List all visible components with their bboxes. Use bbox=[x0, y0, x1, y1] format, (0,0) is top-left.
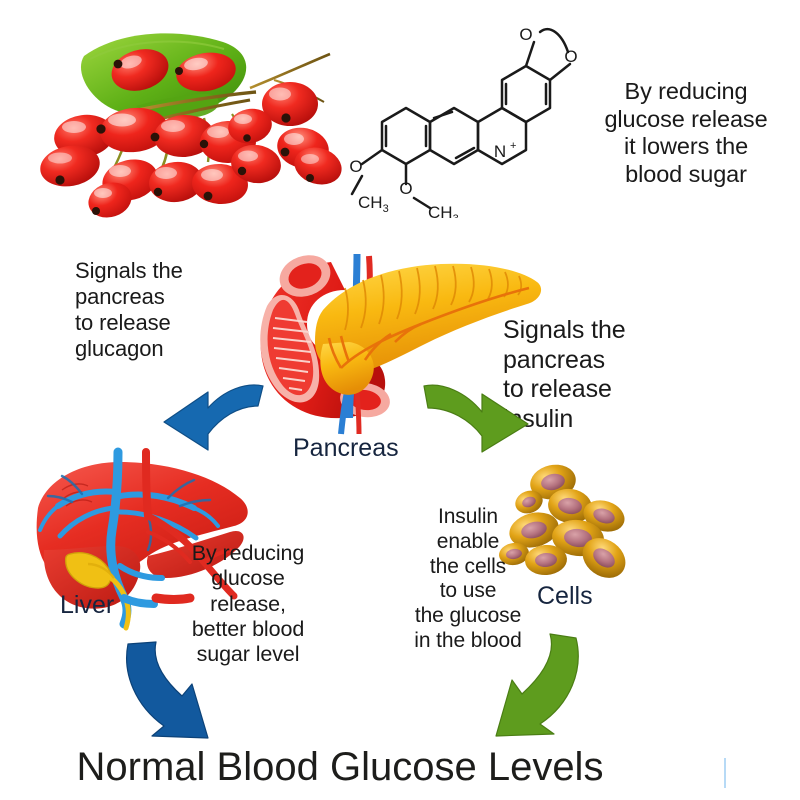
atom-label-o-1: O bbox=[519, 25, 532, 44]
atom-label-ch3-1: CH3 bbox=[358, 193, 389, 215]
berberine-caption: By reducing glucose release it lowers th… bbox=[586, 78, 786, 189]
atom-label-o-2: O bbox=[564, 47, 577, 66]
atom-label-ch3-2: CH3 bbox=[428, 203, 459, 218]
atom-label-o-4: O bbox=[399, 179, 412, 198]
atom-label-o-3: O bbox=[349, 157, 362, 176]
arrow-cells-to-title bbox=[474, 624, 599, 742]
barberry-berries-photo bbox=[18, 14, 348, 229]
organ-label-pancreas: Pancreas bbox=[293, 434, 399, 463]
glucagon-caption: Signals the pancreas to release glucagon bbox=[75, 258, 265, 362]
berberine-chemical-structure: O O N + O O CH3 CH3 bbox=[348, 18, 578, 218]
corner-tick-mark bbox=[724, 758, 726, 788]
arrow-liver-to-title bbox=[112, 634, 232, 746]
atom-charge-plus: + bbox=[510, 140, 516, 152]
atom-label-n: N bbox=[494, 142, 506, 161]
infographic-canvas: O O N + O O CH3 CH3 By reducing glucose … bbox=[0, 0, 800, 800]
organ-label-liver: Liver bbox=[60, 591, 114, 620]
arrow-pancreas-to-cells bbox=[418, 372, 538, 462]
organ-label-cells: Cells bbox=[537, 582, 593, 611]
page-title: Normal Blood Glucose Levels bbox=[0, 744, 680, 791]
